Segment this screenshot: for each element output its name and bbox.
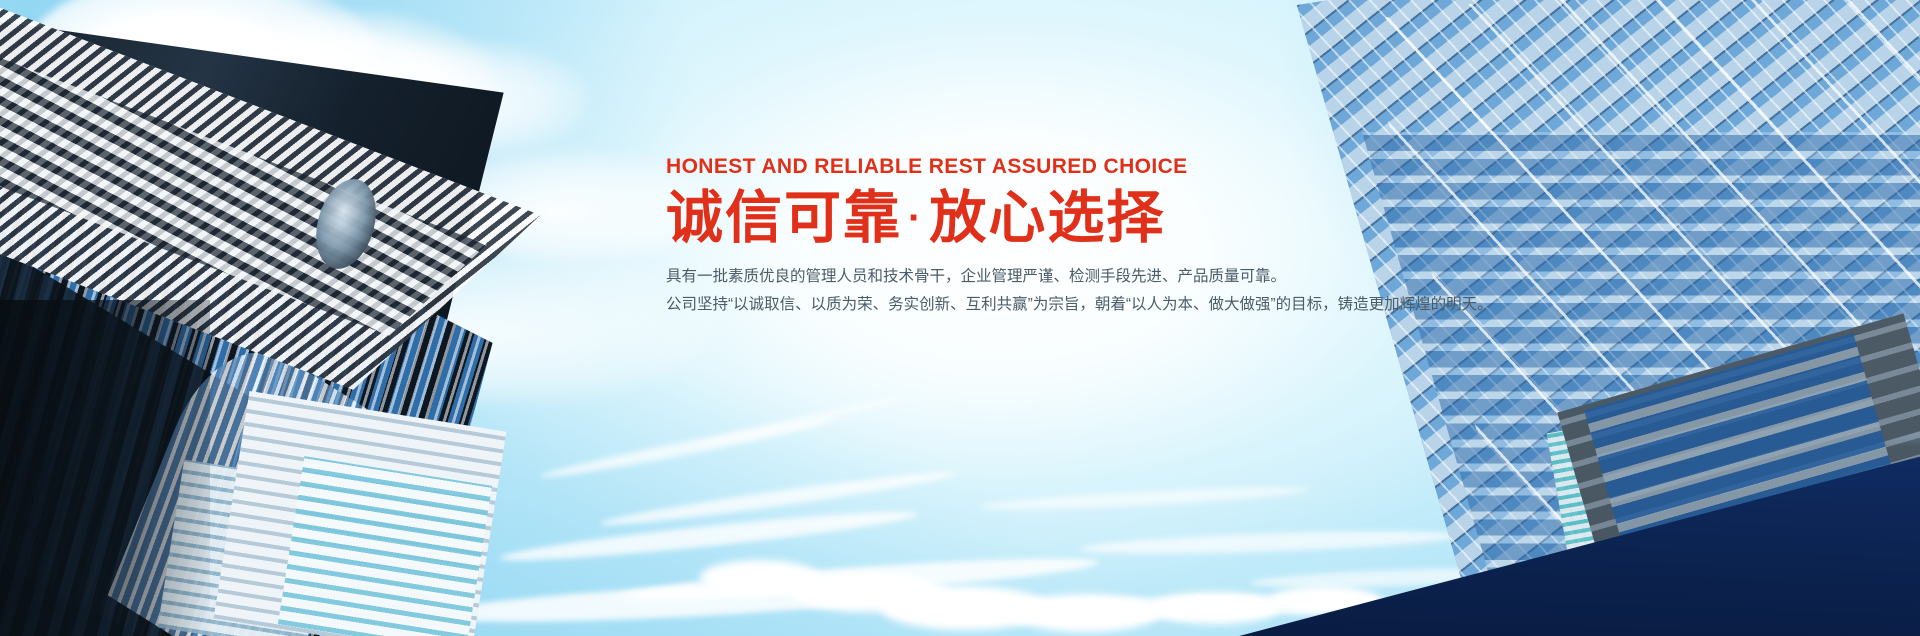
banner-body-line: 具有一批素质优良的管理人员和技术骨干，企业管理严谨、检测手段先进、产品质量可靠。 <box>666 263 1386 291</box>
banner-eyebrow: HONEST AND RELIABLE REST ASSURED CHOICE <box>666 155 1386 178</box>
headline-separator: · <box>902 196 929 240</box>
cloud-puff-small <box>1150 592 1280 624</box>
left-stepped-tower-front <box>278 456 492 636</box>
left-skyscraper <box>0 0 420 636</box>
banner-body-line: 公司坚持“以诚取信、以质为荣、务实创新、互利共赢”为宗旨，朝着“以人为本、做大做… <box>666 291 1386 319</box>
headline-right: 放心选择 <box>929 186 1165 250</box>
banner-copy: HONEST AND RELIABLE REST ASSURED CHOICE … <box>666 155 1386 319</box>
banner-headline: 诚信可靠·放心选择 <box>666 187 1386 251</box>
left-tower-shading <box>0 300 210 636</box>
hero-banner: HONEST AND RELIABLE REST ASSURED CHOICE … <box>0 0 1920 636</box>
headline-left: 诚信可靠 <box>666 186 902 250</box>
banner-body: 具有一批素质优良的管理人员和技术骨干，企业管理严谨、检测手段先进、产品质量可靠。… <box>666 263 1386 319</box>
cloud-puff-small <box>1010 594 1160 632</box>
